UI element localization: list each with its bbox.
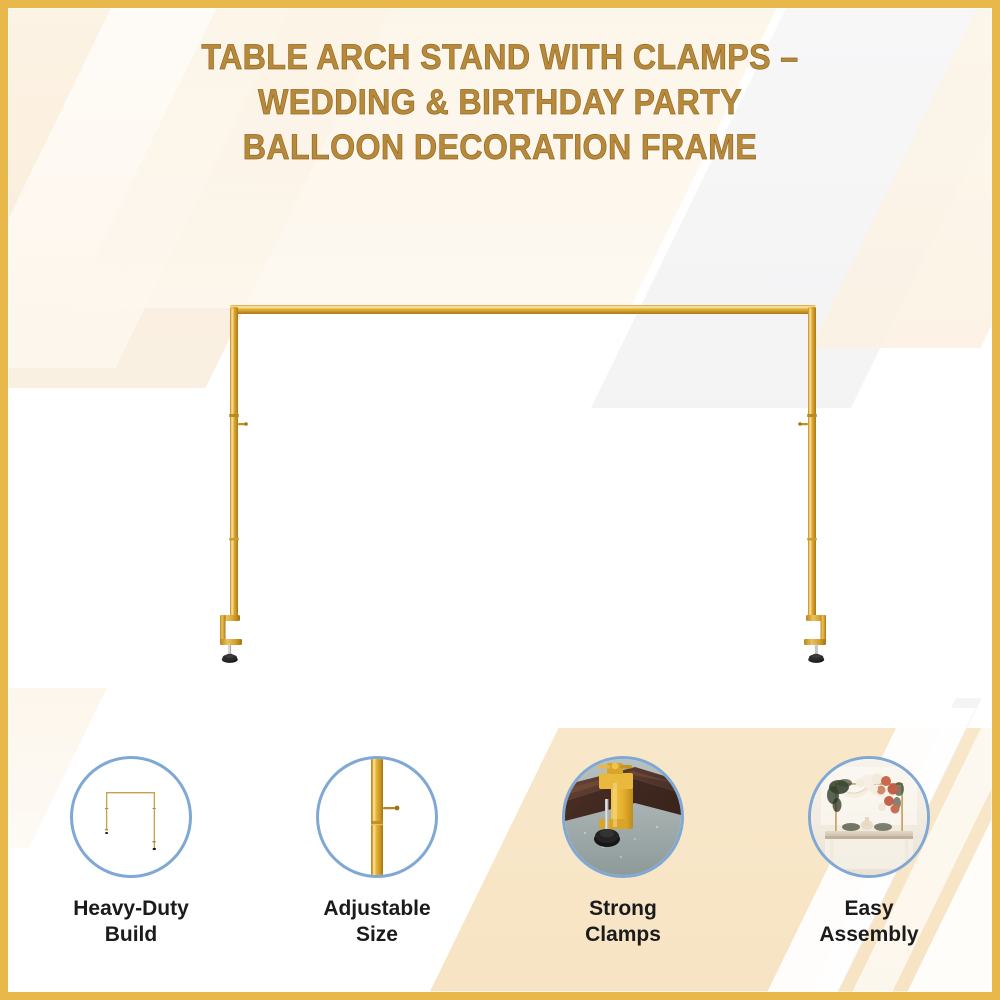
feature-label-strong-clamps: Strong Clamps bbox=[585, 896, 661, 948]
feature-highlights-row: Heavy-Duty Build bbox=[8, 756, 992, 948]
title-line-1: TABLE ARCH STAND WITH CLAMPS – bbox=[47, 35, 952, 80]
arch-frame-icon bbox=[73, 759, 189, 875]
feature-circle-easy-assembly bbox=[808, 756, 930, 878]
feature-circle-heavy-duty-build bbox=[70, 756, 192, 878]
arch-right-upright bbox=[798, 307, 817, 619]
left-table-clamp bbox=[220, 615, 242, 663]
feature-adjustable-size: Adjustable Size bbox=[277, 756, 477, 948]
arch-top-crossbar bbox=[230, 305, 816, 314]
feature-label-easy-assembly: Easy Assembly bbox=[819, 896, 918, 948]
feature-label-adjustable-size: Adjustable Size bbox=[323, 896, 430, 948]
table-clamp-photo-icon bbox=[565, 759, 681, 875]
decorated-arch-photo-icon bbox=[811, 759, 927, 875]
product-marketing-image: TABLE ARCH STAND WITH CLAMPS – WEDDING &… bbox=[0, 0, 1000, 1000]
feature-easy-assembly: Easy Assembly bbox=[769, 756, 969, 948]
feature-circle-adjustable-size bbox=[316, 756, 438, 878]
arch-left-upright bbox=[229, 307, 248, 619]
feature-heavy-duty-build: Heavy-Duty Build bbox=[31, 756, 231, 948]
feature-strong-clamps: Strong Clamps bbox=[523, 756, 723, 948]
right-table-clamp bbox=[804, 615, 826, 663]
feature-circle-strong-clamps bbox=[562, 756, 684, 878]
image-canvas: TABLE ARCH STAND WITH CLAMPS – WEDDING &… bbox=[8, 8, 992, 992]
feature-label-heavy-duty-build: Heavy-Duty Build bbox=[73, 896, 189, 948]
title-line-3: BALLOON DECORATION FRAME bbox=[47, 125, 952, 170]
title-line-2: WEDDING & BIRTHDAY PARTY bbox=[47, 80, 952, 125]
adjustable-pole-icon bbox=[319, 759, 435, 875]
page-title: TABLE ARCH STAND WITH CLAMPS – WEDDING &… bbox=[8, 35, 992, 170]
